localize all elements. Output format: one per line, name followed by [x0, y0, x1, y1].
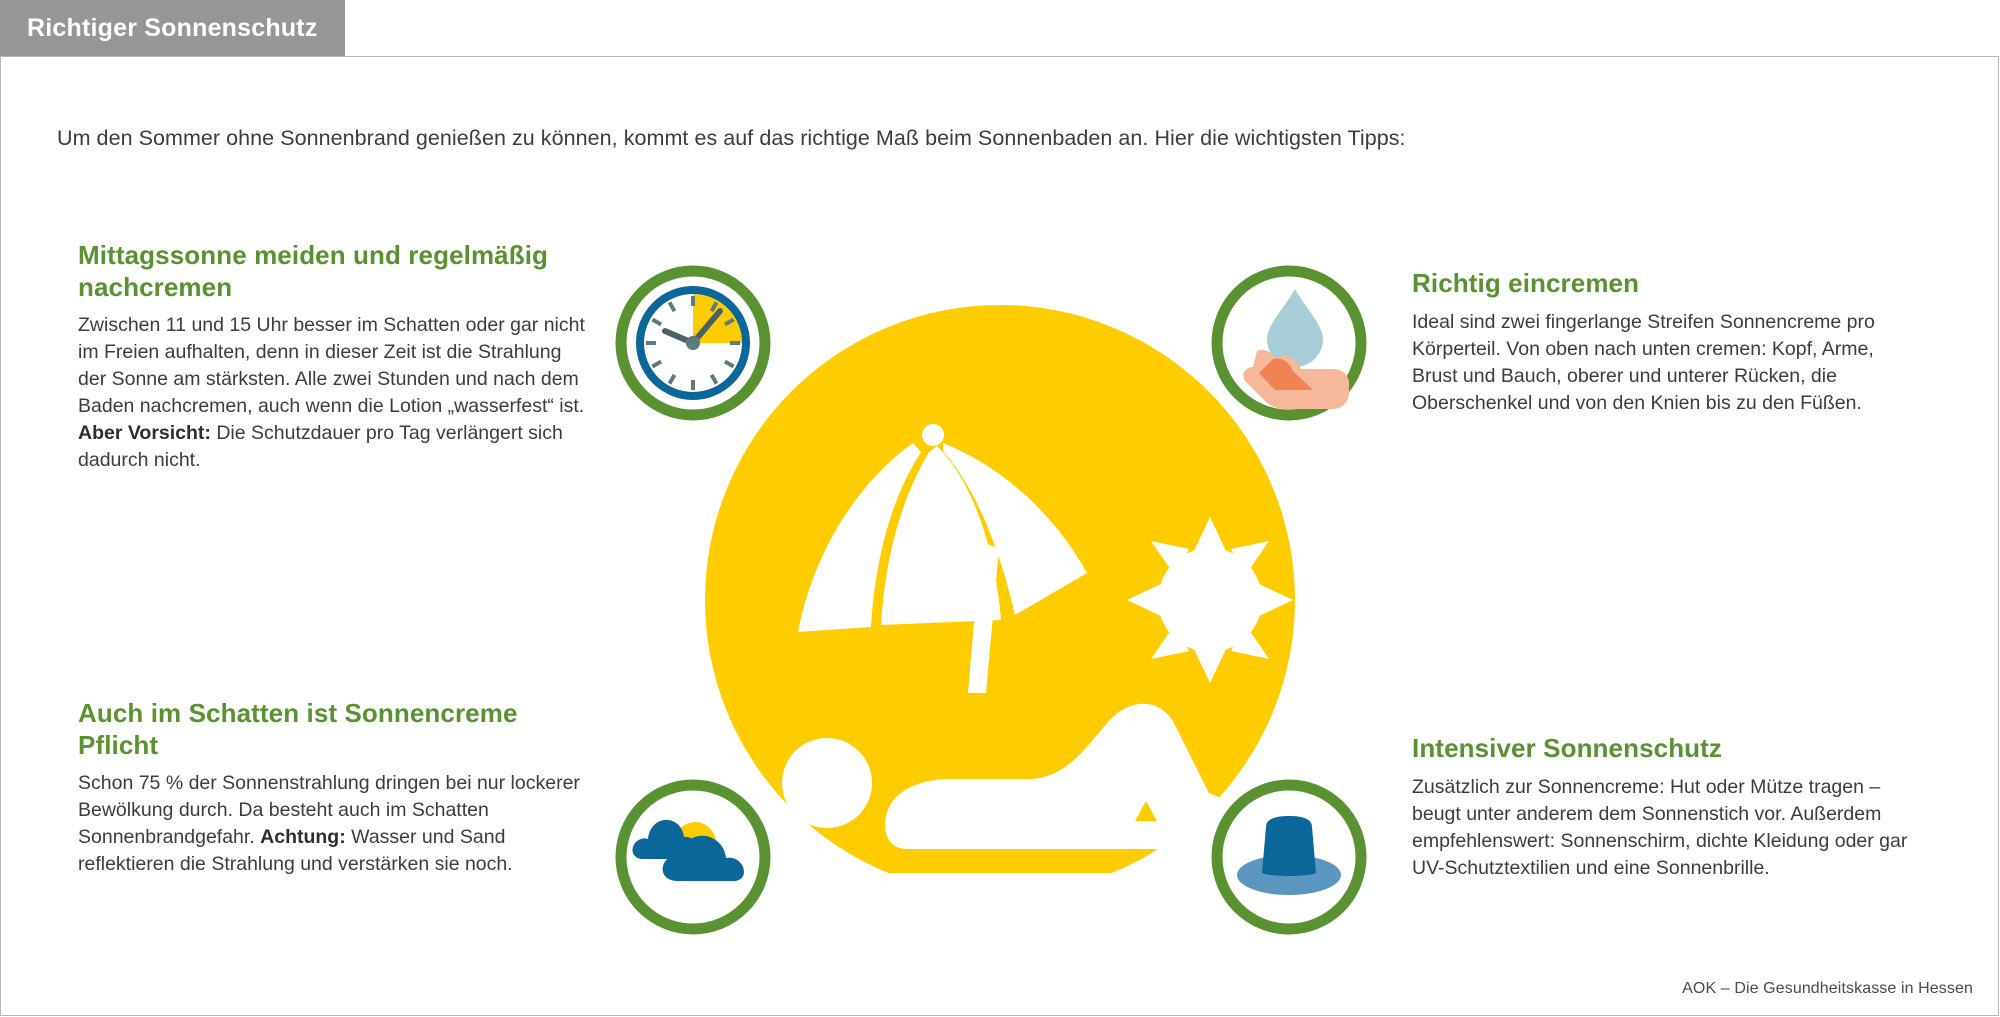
intro-text: Um den Sommer ohne Sonnenbrand genießen … — [57, 126, 1406, 151]
infographic-page: Richtiger Sonnenschutz Um den Sommer ohn… — [0, 0, 2000, 1017]
tip-body-top-right: Ideal sind zwei fingerlange Streifen Son… — [1412, 309, 1922, 417]
icon-circle-hat — [1211, 779, 1367, 935]
clock-icon — [640, 290, 746, 396]
tip-block-bottom-right: Intensiver Sonnenschutz Zusätzlich zur S… — [1412, 733, 1922, 882]
tab-label: Richtiger Sonnenschutz — [0, 14, 318, 43]
sun-rays-icon — [1127, 517, 1293, 683]
hat-crown — [1262, 816, 1316, 876]
tip-body-emphasis: Achtung: — [260, 826, 346, 848]
tip-block-top-right: Richtig eincremen Ideal sind zwei finger… — [1412, 268, 1922, 417]
tip-block-top-left: Mittagssonne meiden und regelmäßig nachc… — [78, 240, 588, 474]
tip-heading-top-left: Mittagssonne meiden und regelmäßig nachc… — [78, 240, 588, 303]
ground-line — [753, 873, 1253, 895]
tip-body-bottom-right: Zusätzlich zur Sonnencreme: Hut oder Müt… — [1412, 774, 1922, 882]
tip-body-pre: Zusätzlich zur Sonnencreme: Hut oder Müt… — [1412, 776, 1907, 879]
tip-body-top-left: Zwischen 11 und 15 Uhr besser im Schatte… — [78, 312, 588, 474]
icon-circle-clock — [615, 265, 771, 421]
tip-body-pre: Ideal sind zwei fingerlange Streifen Son… — [1412, 311, 1875, 414]
tip-body-emphasis: Aber Vorsicht: — [78, 422, 211, 444]
icon-circle-clouds — [615, 779, 771, 935]
footer-credit: AOK – Die Gesundheitskasse in Hessen — [1682, 980, 1973, 998]
header-tab-bar: Richtiger Sonnenschutz — [0, 0, 2000, 57]
tip-body-pre: Zwischen 11 und 15 Uhr besser im Schatte… — [78, 314, 585, 417]
tip-heading-bottom-right: Intensiver Sonnenschutz — [1412, 733, 1922, 765]
central-illustration — [595, 245, 1405, 955]
icon-circle-lotion — [1211, 265, 1367, 421]
tip-heading-bottom-left: Auch im Schatten ist Sonnencreme Pflicht — [78, 698, 588, 761]
tab-richtiger-sonnenschutz[interactable]: Richtiger Sonnenschutz — [0, 0, 345, 57]
tip-block-bottom-left: Auch im Schatten ist Sonnencreme Pflicht… — [78, 698, 588, 878]
tip-body-bottom-left: Schon 75 % der Sonnenstrahlung dringen b… — [78, 770, 588, 878]
tip-heading-top-right: Richtig eincremen — [1412, 268, 1922, 300]
